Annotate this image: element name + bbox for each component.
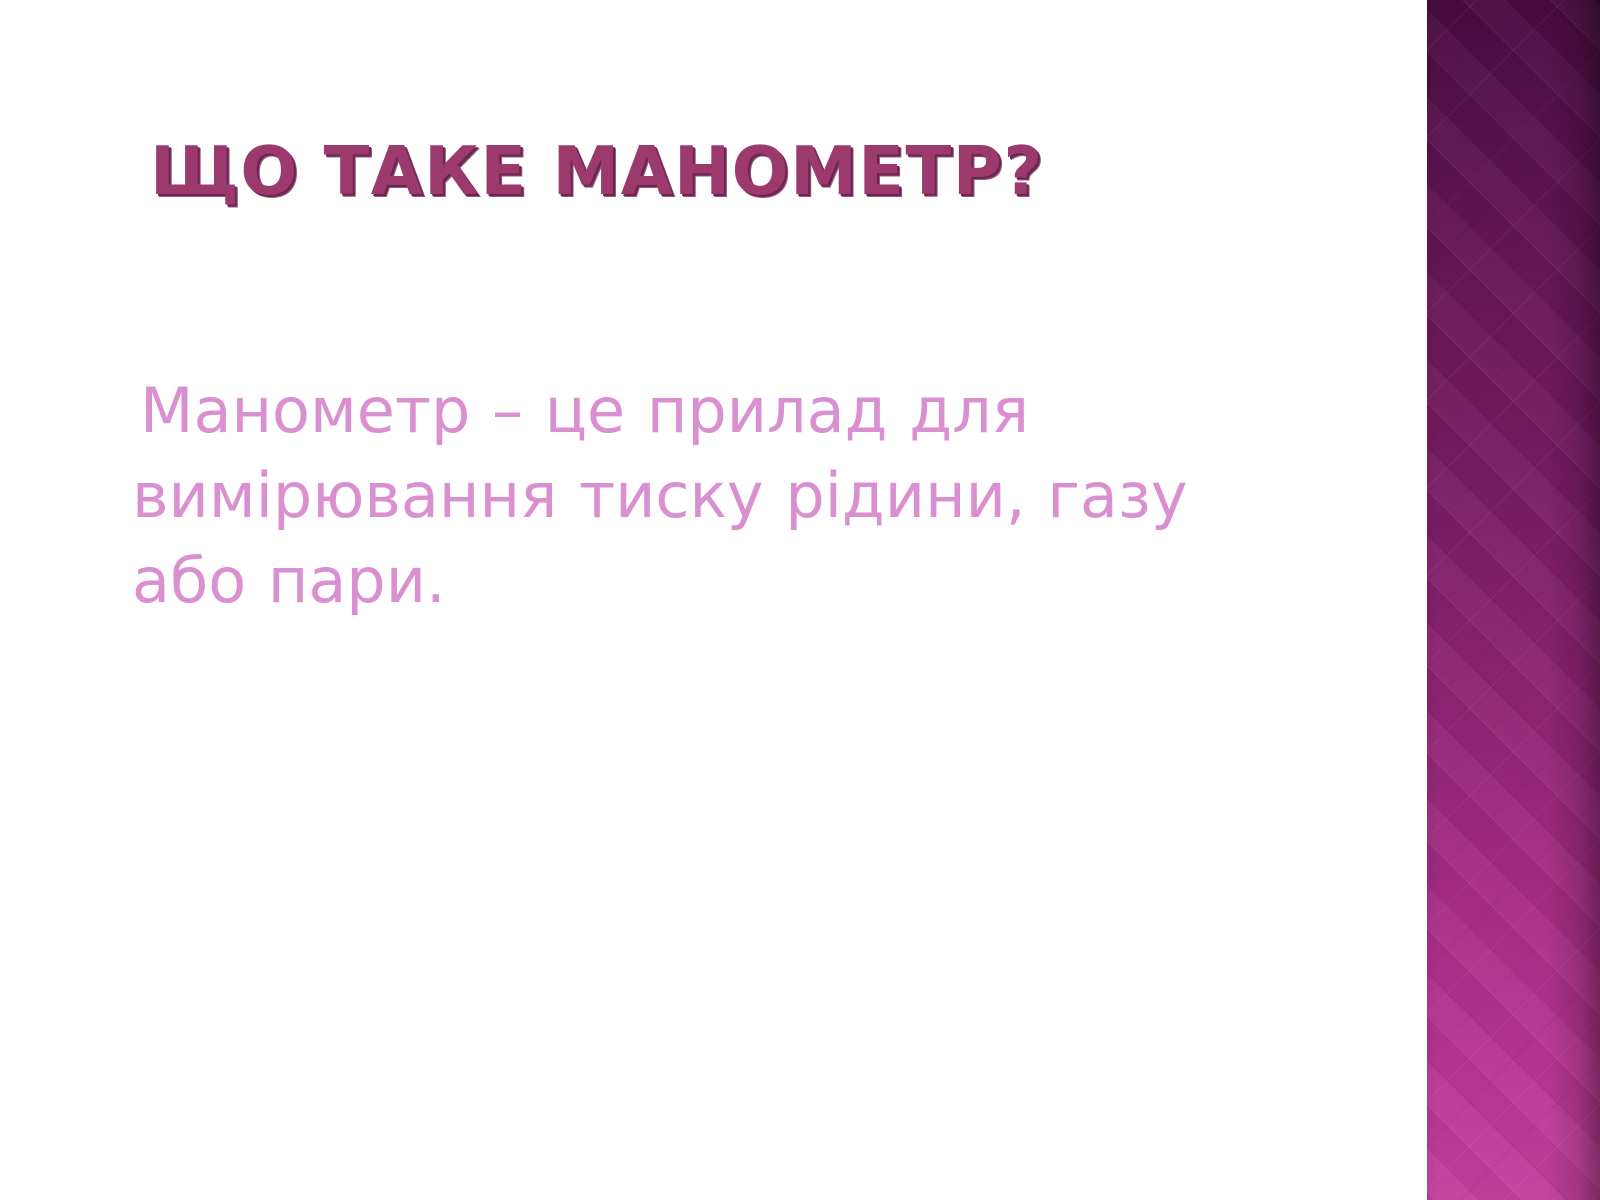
body-text: Манометр – це прилад для вимірювання тис…: [132, 368, 1242, 623]
title-placeholder: Що таке манометр?: [150, 138, 1330, 234]
sidebar-vignette-overlay: [1427, 0, 1600, 1200]
decorative-sidebar: [1427, 0, 1600, 1200]
page-title: Що таке манометр?: [150, 138, 1330, 205]
presentation-slide: Що таке манометр? Манометр – це прилад д…: [0, 0, 1600, 1200]
body-placeholder: Манометр – це прилад для вимірювання тис…: [132, 368, 1242, 623]
diamond-pattern-overlay: [1427, 0, 1600, 1200]
